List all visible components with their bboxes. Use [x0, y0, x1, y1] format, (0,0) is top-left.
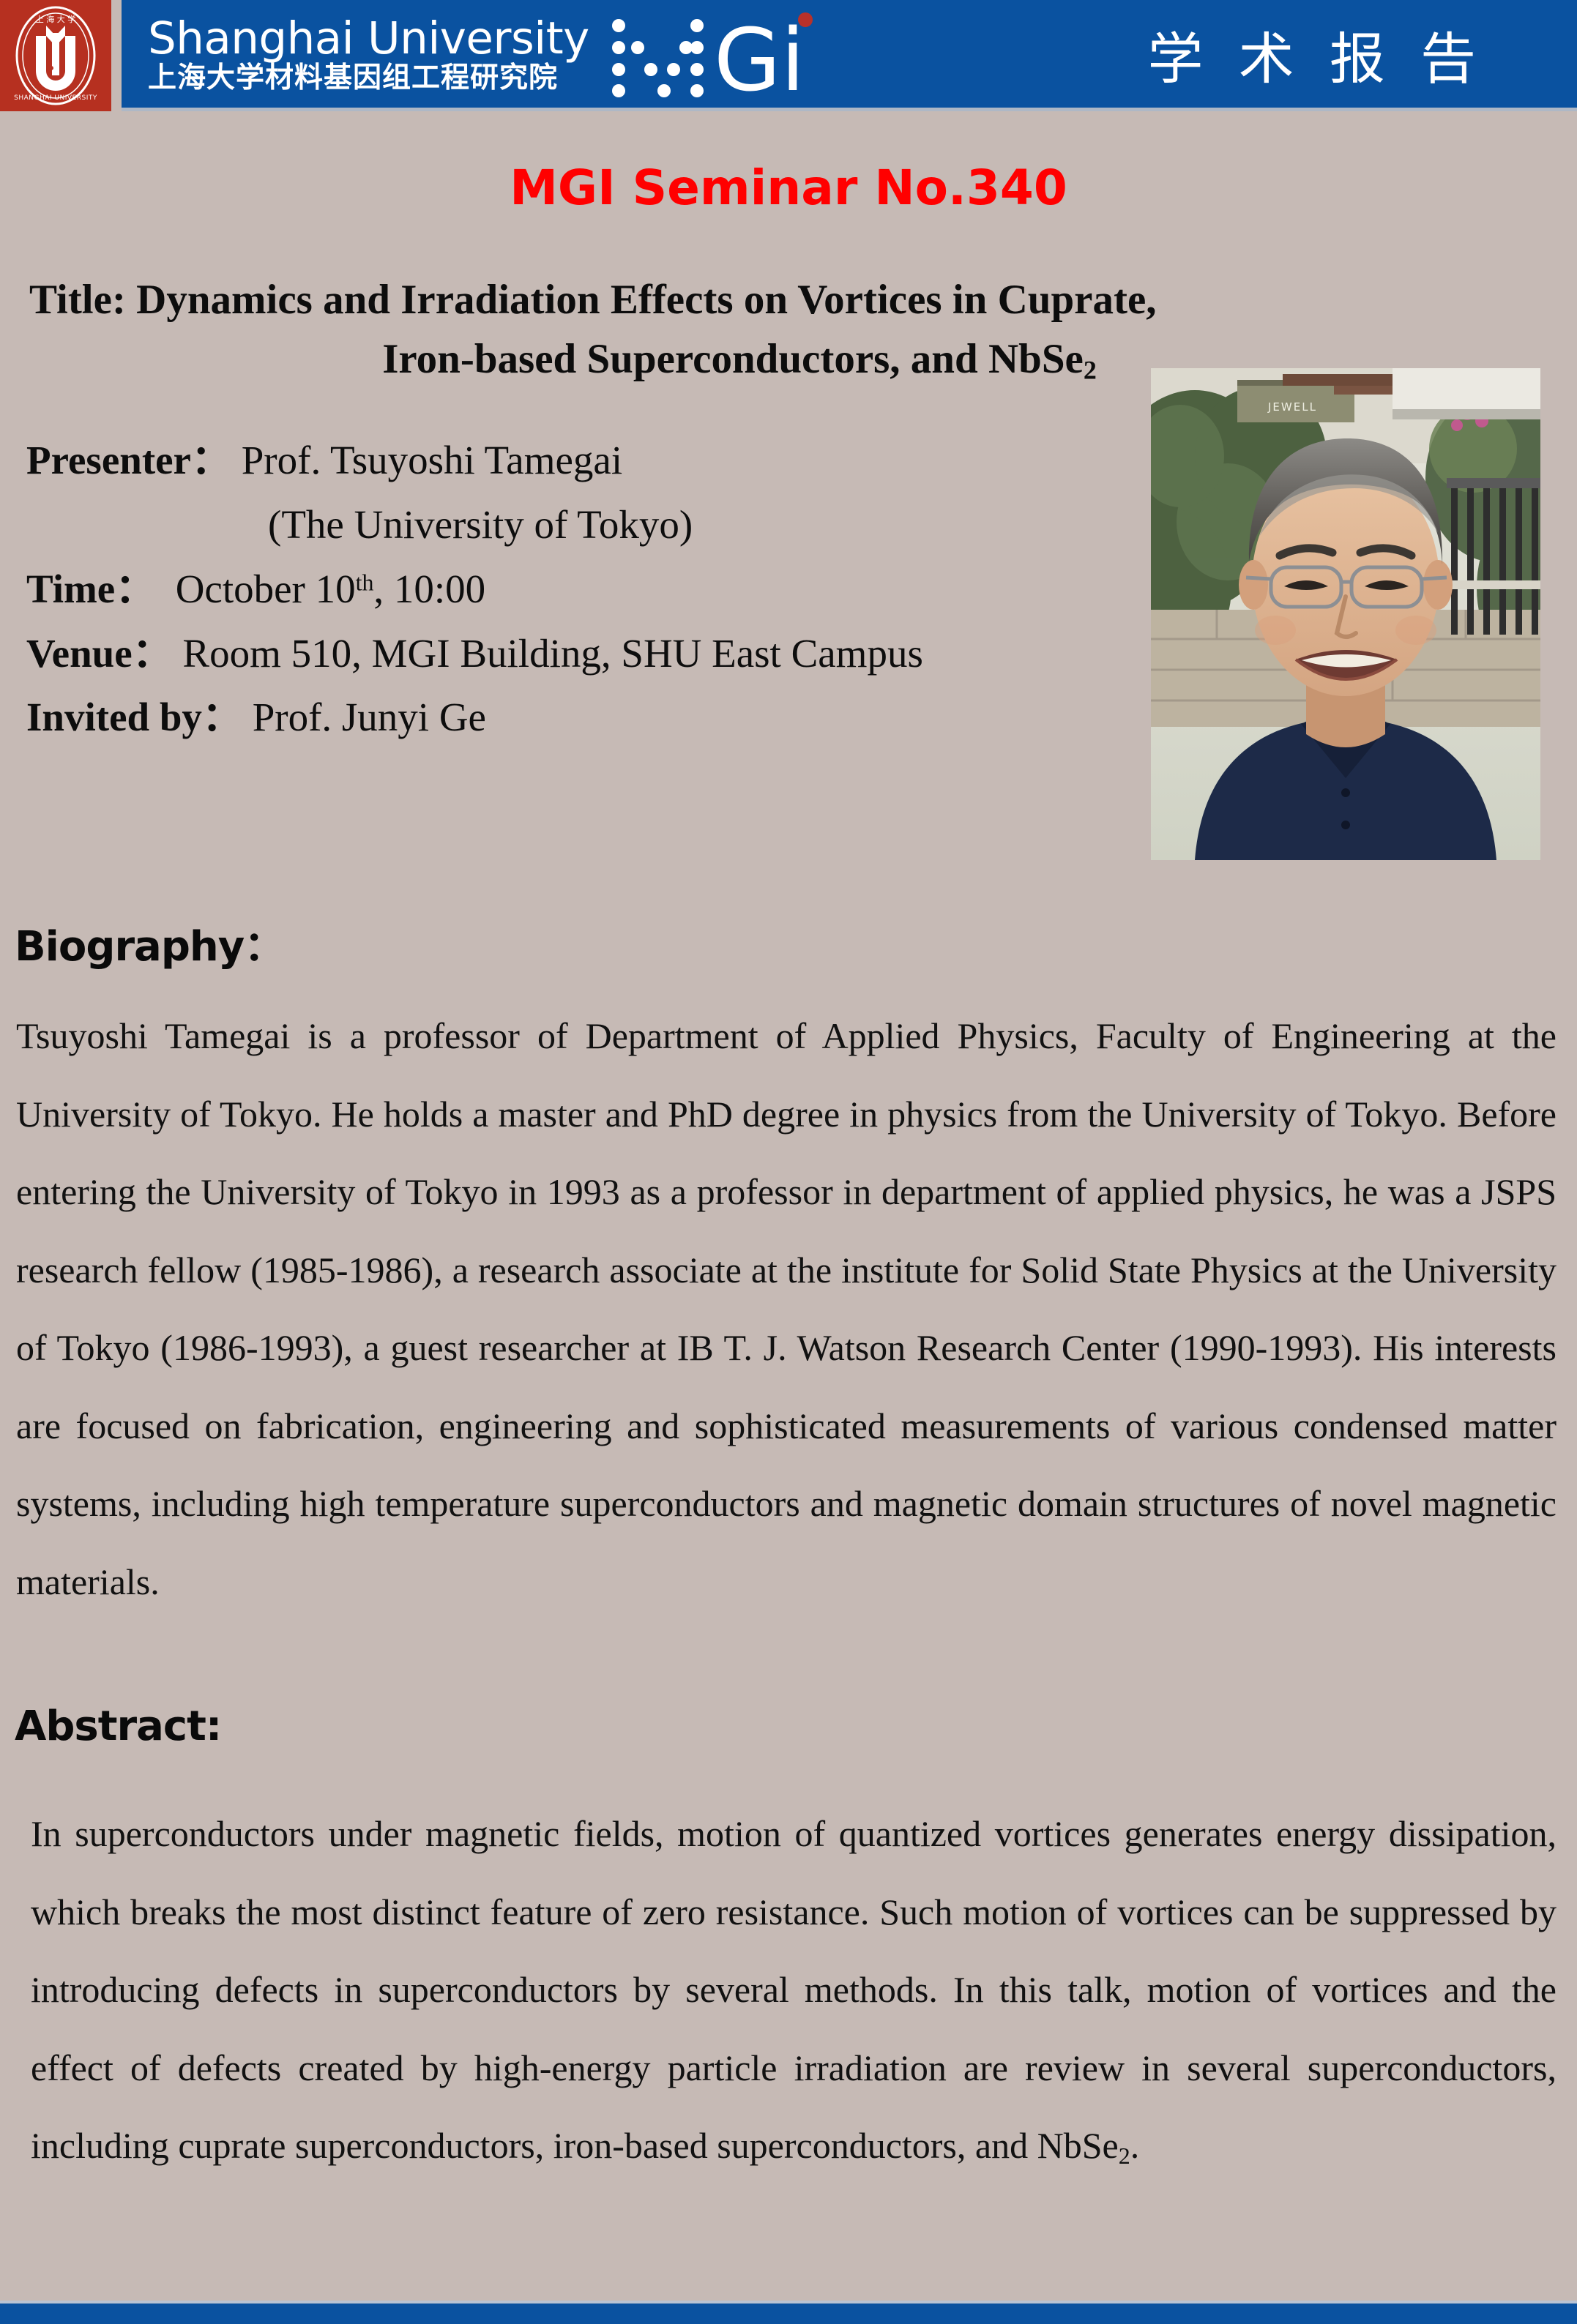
seminar-title-line-1: Title: Dynamics and Irradiation Effects …	[29, 271, 1406, 330]
presenter-portrait-image: JEWELL	[1151, 368, 1540, 860]
header-divider	[111, 0, 122, 111]
time-value: October 10	[176, 567, 356, 611]
invited-by-label: Invited by：	[26, 695, 242, 739]
abstract-text-tail: .	[1130, 2125, 1140, 2166]
academic-report-banner: 学 术 报 告	[1148, 14, 1485, 94]
mgi-red-dot-icon	[798, 12, 813, 27]
abstract-text-main: In superconductors under magnetic fields…	[31, 1813, 1557, 2166]
presenter-label: Presenter：	[26, 438, 231, 482]
footer-bar	[0, 2301, 1577, 2324]
svg-text:JEWELL: JEWELL	[1267, 400, 1317, 414]
venue-label: Venue：	[26, 631, 173, 676]
seminar-poster: 上 海 大 学 SHANGHAI UNIVERSITY Shanghai Uni…	[0, 0, 1577, 2324]
presenter-row: Presenter： Prof. Tsuyoshi Tamegai	[26, 439, 1139, 482]
svg-text:上 海 大 学: 上 海 大 学	[36, 14, 76, 24]
presenter-photo: JEWELL	[1151, 368, 1540, 860]
seminar-number-title: MGI Seminar No.340	[0, 160, 1577, 216]
venue-row: Venue： Room 510, MGI Building, SHU East …	[26, 632, 1139, 676]
affiliation-row: (The University of Tokyo)	[26, 504, 1139, 547]
shanghai-university-seal-icon: 上 海 大 学 SHANGHAI UNIVERSITY	[11, 4, 100, 108]
abstract-subscript: 2	[1119, 2142, 1130, 2169]
mgi-dot-matrix-icon: Gi	[605, 4, 825, 100]
seminar-title-subscript: 2	[1084, 356, 1097, 385]
mgi-logo: Gi	[605, 4, 825, 104]
university-wordmark: Shanghai University 上海大学材料基因组工程研究院	[148, 16, 589, 92]
seminar-details: Presenter： Prof. Tsuyoshi Tamegai (The U…	[26, 439, 1139, 761]
poster-header: 上 海 大 学 SHANGHAI UNIVERSITY Shanghai Uni…	[0, 0, 1577, 111]
time-label: Time：	[26, 567, 155, 611]
header-blue-band: Shanghai University 上海大学材料基因组工程研究院	[122, 0, 1577, 111]
presenter-value: Prof. Tsuyoshi Tamegai	[242, 438, 622, 482]
venue-value: Room 510, MGI Building, SHU East Campus	[182, 631, 922, 676]
biography-text: Tsuyoshi Tamegai is a professor of Depar…	[16, 997, 1557, 1621]
invited-by-row: Invited by： Prof. Junyi Ge	[26, 696, 1139, 739]
abstract-heading: Abstract:	[15, 1703, 221, 1750]
time-row: Time： October 10th, 10:00	[26, 568, 1139, 611]
seminar-title-line-2-text: Iron-based Superconductors, and NbSe	[382, 336, 1084, 382]
biography-heading: Biography：	[15, 913, 284, 973]
abstract-text: In superconductors under magnetic fields…	[31, 1795, 1557, 2185]
shanghai-university-seal-panel: 上 海 大 学 SHANGHAI UNIVERSITY	[0, 0, 111, 111]
affiliation-value: (The University of Tokyo)	[268, 502, 693, 547]
time-ordinal-suffix: th	[356, 569, 374, 595]
svg-text:SHANGHAI UNIVERSITY: SHANGHAI UNIVERSITY	[14, 94, 97, 102]
university-name-en: Shanghai University	[148, 16, 589, 61]
invited-by-value: Prof. Junyi Ge	[253, 695, 486, 739]
mgi-gi-wordmark: Gi	[714, 10, 805, 100]
time-value-tail: , 10:00	[373, 567, 485, 611]
institute-name-cn: 上海大学材料基因组工程研究院	[148, 64, 589, 92]
